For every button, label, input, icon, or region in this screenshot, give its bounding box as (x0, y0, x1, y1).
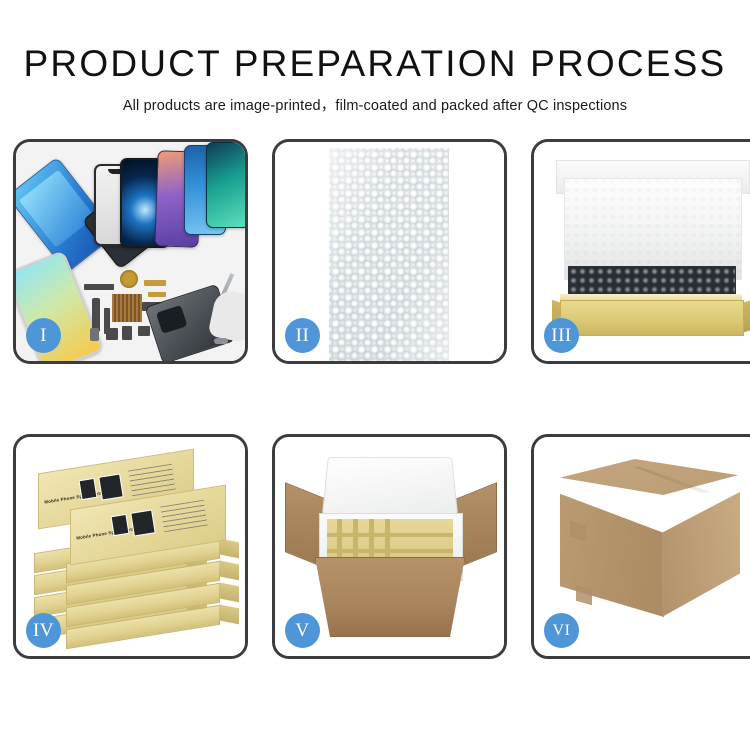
step-panel-6: VI (531, 434, 750, 659)
step-panel-1: I (13, 139, 248, 364)
spare-part-screw (214, 338, 228, 344)
foam-sheet (564, 178, 742, 280)
plastic-gloss (329, 148, 449, 361)
box-stack: Mobile Phone Spare Parts Mobile Phone Sp… (30, 457, 236, 637)
box-thumbnail-back-a (79, 478, 98, 500)
carton-side-face (662, 481, 740, 617)
box-front-panel (560, 300, 744, 336)
phone-teal (206, 142, 245, 228)
spare-part-coil (120, 270, 138, 288)
carton-body (315, 557, 465, 637)
step-badge-5: V (285, 613, 320, 648)
spare-part-strip (84, 284, 114, 290)
box-thumbnail-back-b (98, 473, 123, 500)
spare-part-connector-b (148, 292, 166, 297)
step-panel-4: Mobile Phone Spare Parts Mobile Phone Sp… (13, 434, 248, 659)
process-steps-grid: I II (13, 139, 737, 679)
step-panel-2: II (272, 139, 507, 364)
spare-part-camera (90, 328, 99, 341)
page-subtitle: All products are image-printed，film-coat… (0, 97, 750, 115)
page-title: PRODUCT PREPARATION PROCESS (0, 44, 750, 84)
step-badge-6: VI (544, 613, 579, 648)
header: PRODUCT PREPARATION PROCESS All products… (0, 0, 750, 115)
step-panel-3: III (531, 139, 750, 364)
box-thumbnail-front-a (111, 514, 130, 536)
box-thumbnail-front-b (130, 509, 155, 536)
spare-part-connector-a (144, 280, 166, 286)
spare-part-board (112, 294, 142, 322)
step-badge-2: II (285, 318, 320, 353)
spare-part-flex-a (92, 298, 100, 332)
spare-part-speaker (106, 328, 118, 340)
product-preparation-infographic: PRODUCT PREPARATION PROCESS All products… (0, 0, 750, 750)
carton-tape-lower (576, 585, 592, 606)
step-badge-4: IV (26, 613, 61, 648)
spare-part-buzzer (122, 326, 132, 340)
step-badge-1: I (26, 318, 61, 353)
step-badge-3: III (544, 318, 579, 353)
spare-part-button (138, 326, 150, 336)
bubble-wrap-pouch (329, 148, 449, 361)
foam-box-lid (322, 457, 458, 515)
step-panel-5: V (272, 434, 507, 659)
